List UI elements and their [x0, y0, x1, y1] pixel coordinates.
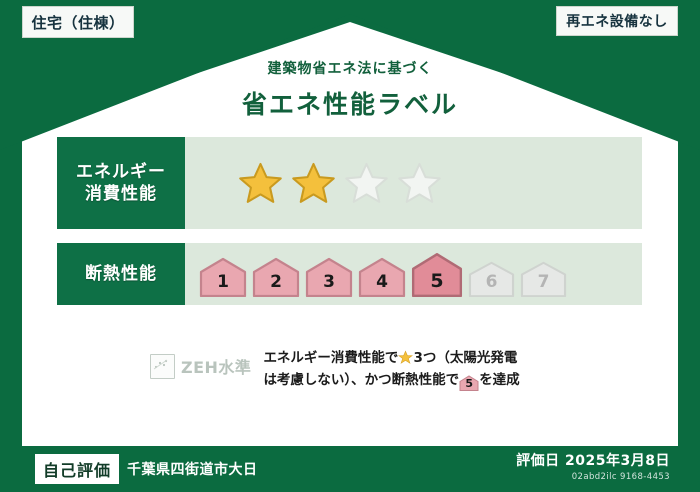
insulation-grade-chip-value: 3 — [323, 272, 335, 292]
insulation-grade-chip-5: 5 — [411, 252, 463, 297]
insulation-grade-chip-value: 6 — [486, 272, 498, 292]
star-filled — [290, 161, 337, 206]
energy-row-label-line1: エネルギー — [76, 161, 166, 183]
insulation-performance-row: 断熱性能 1234567 — [57, 243, 642, 305]
star-filled — [237, 161, 284, 206]
energy-row-label-line2: 消費性能 — [85, 183, 157, 205]
desc-line1-before: エネルギー消費性能で — [263, 350, 398, 366]
desc-line1-after: 3つ（太陽光発電 — [413, 350, 517, 366]
energy-performance-label: 住宅（住棟） 再エネ設備なし 建築物省エネ法に基づく 省エネ性能ラベル エネルギ… — [0, 0, 700, 492]
star-empty — [343, 161, 390, 206]
insulation-grade-chip-1: 1 — [199, 257, 247, 297]
insulation-row-label-text: 断熱性能 — [85, 263, 157, 285]
footer-left-group: 自己評価 千葉県四街道市大日 — [35, 454, 258, 484]
badge-building-type: 住宅（住棟） — [22, 6, 134, 38]
evaluation-type-badge: 自己評価 — [35, 454, 119, 484]
inline-star-icon — [398, 350, 413, 365]
insulation-grade-chip-7: 7 — [520, 261, 567, 297]
title-subtitle: 建築物省エネ法に基づく — [0, 58, 700, 78]
insulation-grade-chip-value: 4 — [376, 272, 388, 292]
zeh-checkbox-icon — [150, 354, 175, 379]
zeh-standard-block: ZEH水準 — [150, 348, 251, 392]
insulation-grade-chip-3: 3 — [305, 257, 353, 297]
achievement-description: エネルギー消費性能で3つ（太陽光発電は考慮しない）、かつ断熱性能で5を達成 — [263, 348, 519, 392]
star-empty — [396, 161, 443, 206]
energy-row-body — [185, 137, 642, 229]
insulation-grade-scale: 1234567 — [185, 252, 567, 297]
energy-row-label: エネルギー 消費性能 — [57, 137, 185, 229]
inline-grade-chip: 5 — [459, 375, 479, 391]
evaluation-date-label: 評価日 — [516, 453, 560, 469]
description-area: ZEH水準 エネルギー消費性能で3つ（太陽光発電は考慮しない）、かつ断熱性能で5… — [150, 348, 580, 392]
badge-renewable-equipment: 再エネ設備なし — [556, 6, 678, 36]
title-block: 建築物省エネ法に基づく 省エネ性能ラベル — [0, 58, 700, 121]
page-title: 省エネ性能ラベル — [0, 85, 700, 121]
insulation-grade-chip-value: 7 — [538, 272, 550, 292]
insulation-grade-chip-2: 2 — [252, 257, 300, 297]
evaluation-date-value: 2025年3月8日 — [565, 453, 670, 469]
evaluation-date: 評価日 2025年3月8日 — [516, 450, 670, 470]
energy-performance-row: エネルギー 消費性能 — [57, 137, 642, 229]
zeh-standard-label: ZEH水準 — [181, 354, 251, 378]
evaluation-id: 02abd2ilc 9168-4453 — [516, 472, 670, 482]
inline-grade-chip-value: 5 — [465, 377, 473, 390]
desc-line2-before: は考慮しない）、かつ断熱性能で — [263, 372, 459, 388]
insulation-grade-chip-value: 1 — [217, 272, 229, 292]
footer-right-group: 評価日 2025年3月8日 02abd2ilc 9168-4453 — [516, 450, 670, 482]
insulation-grade-chip-4: 4 — [358, 257, 406, 297]
insulation-grade-chip-6: 6 — [468, 261, 515, 297]
desc-line2-after: を達成 — [479, 372, 520, 388]
insulation-grade-chip-value: 2 — [270, 272, 282, 292]
insulation-row-label: 断熱性能 — [57, 243, 185, 305]
property-address: 千葉県四街道市大日 — [127, 459, 258, 479]
insulation-row-body: 1234567 — [185, 243, 642, 305]
label-footer: 自己評価 千葉県四街道市大日 評価日 2025年3月8日 02abd2ilc 9… — [0, 446, 700, 492]
star-rating — [185, 161, 443, 206]
insulation-grade-chip-value: 5 — [430, 270, 443, 292]
